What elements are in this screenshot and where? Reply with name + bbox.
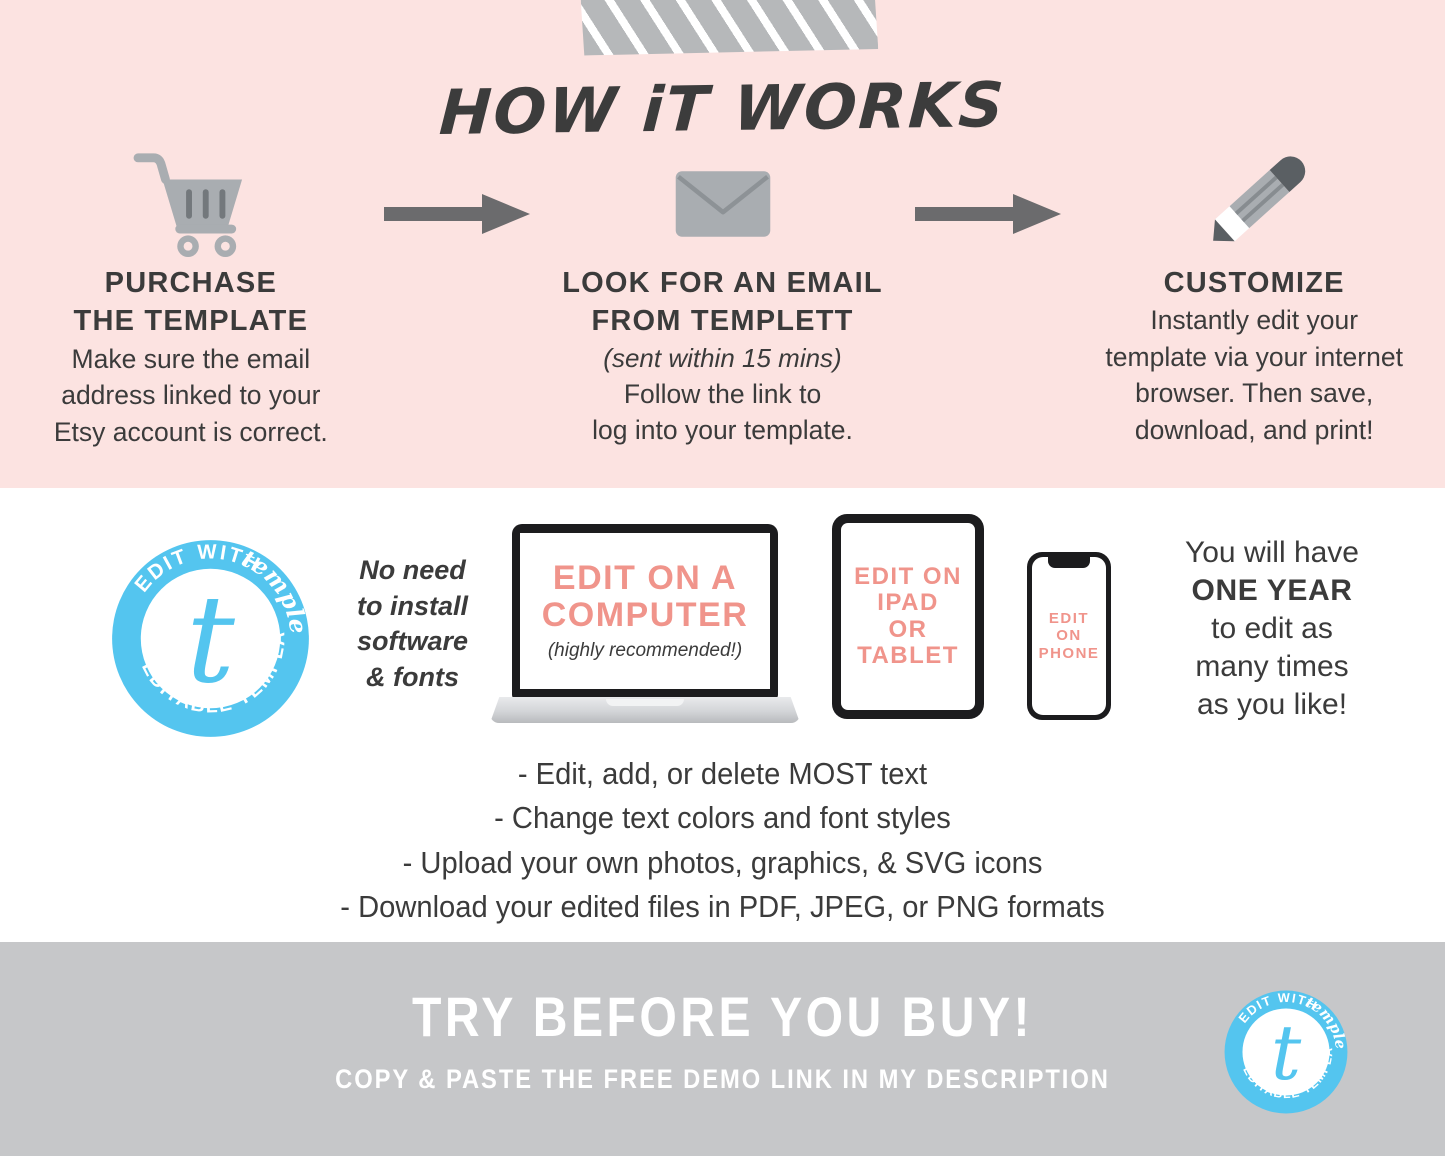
step-body: Instantly edit your template via your in… xyxy=(1063,302,1445,448)
one-year-line4: many times xyxy=(1195,650,1348,683)
feature-list: - Edit, add, or delete MOST text - Chang… xyxy=(0,752,1445,929)
step-body-line3: browser. Then save, xyxy=(1135,378,1373,408)
step-body-line2: address linked to your xyxy=(61,380,320,410)
list-item: - Edit, add, or delete MOST text xyxy=(43,752,1401,796)
step-body: Make sure the email address linked to yo… xyxy=(0,341,382,451)
step-heading: LOOK FOR AN EMAIL FROM TEMPLETT xyxy=(532,264,914,341)
no-need-line3: software xyxy=(357,626,468,656)
step-body-line1: Follow the link to xyxy=(624,379,821,409)
step-heading-line1: PURCHASE xyxy=(105,267,277,299)
templett-badge-icon-footer: EDIT WITH templett EDITABLE TEMPLATE t xyxy=(1222,988,1350,1116)
step-body-line1: Instantly edit your xyxy=(1150,305,1358,335)
laptop-screen-line1: EDIT ON A xyxy=(553,559,737,597)
tablet-body: EDIT ON IPAD OR TABLET xyxy=(832,514,984,719)
phone-screen: EDIT ON PHONE xyxy=(1032,557,1106,715)
list-item: - Upload your own photos, graphics, & SV… xyxy=(43,841,1401,885)
laptop-notch xyxy=(606,699,684,706)
tablet-screen-line3: OR xyxy=(889,616,928,643)
list-item: - Download your edited files in PDF, JPE… xyxy=(43,885,1401,929)
step-heading-line1: LOOK FOR AN EMAIL xyxy=(562,267,883,299)
one-year-highlight: ONE YEAR xyxy=(1192,574,1353,607)
arrow-right-icon xyxy=(382,192,532,236)
no-need-line2: to install xyxy=(357,591,468,621)
no-need-line4: & fonts xyxy=(366,662,459,692)
phone-screen-title: EDIT ON PHONE xyxy=(1039,610,1100,662)
hero-section: HOW iT WORKS xyxy=(0,0,1445,488)
laptop-screen-note: (highly recommended!) xyxy=(548,640,742,662)
tablet-screen-line2: IPAD xyxy=(877,589,939,616)
step-body-line1: Make sure the email xyxy=(72,344,311,374)
one-year-line3: to edit as xyxy=(1211,612,1333,645)
step-body-line2: template via your internet xyxy=(1105,342,1403,372)
laptop-device: EDIT ON A COMPUTER (highly recommended!) xyxy=(490,524,800,732)
step-body: Follow the link to log into your templat… xyxy=(532,376,914,449)
step-body-line4: download, and print! xyxy=(1135,415,1374,445)
arrow-1 xyxy=(382,150,532,236)
list-item: - Change text colors and font styles xyxy=(43,796,1401,840)
templett-badge-icon: EDIT WITH templett EDITABLE TEMPLATE t xyxy=(108,536,313,741)
one-year-line1: You will have xyxy=(1185,536,1359,569)
one-year-text: You will have ONE YEAR to edit as many t… xyxy=(1122,534,1422,724)
step-heading-line1: CUSTOMIZE xyxy=(1164,267,1345,299)
no-need-text: No need to install software & fonts xyxy=(330,553,495,696)
footer-title: TRY BEFORE YOU BUY! xyxy=(101,984,1344,1049)
phone-screen-line3: PHONE xyxy=(1039,645,1100,662)
page-title: HOW iT WORKS xyxy=(0,62,1445,155)
phone-screen-line2: ON xyxy=(1056,627,1082,644)
tablet-screen-line4: TABLET xyxy=(857,642,959,669)
arrow-right-icon xyxy=(913,192,1063,236)
step-purchase: PURCHASE THE TEMPLATE Make sure the emai… xyxy=(0,150,382,450)
washi-tape-icon xyxy=(578,0,879,56)
badge-letter: t xyxy=(186,570,235,711)
phone-notch-icon xyxy=(1048,557,1090,568)
step-body-line3: Etsy account is correct. xyxy=(54,417,328,447)
pencil-icon xyxy=(1063,150,1445,258)
no-need-line1: No need xyxy=(359,555,466,585)
step-body-line2: log into your template. xyxy=(592,415,853,445)
phone-device: EDIT ON PHONE xyxy=(1027,552,1111,720)
phone-screen-line1: EDIT xyxy=(1049,610,1089,627)
laptop-screen-title: EDIT ON A COMPUTER xyxy=(542,560,749,632)
tablet-screen-line1: EDIT ON xyxy=(854,563,962,590)
step-customize: CUSTOMIZE Instantly edit your template v… xyxy=(1063,150,1445,449)
laptop-screen-line2: COMPUTER xyxy=(542,596,749,634)
laptop-screen: EDIT ON A COMPUTER (highly recommended!) xyxy=(520,533,770,689)
step-note: (sent within 15 mins) xyxy=(532,341,914,376)
shopping-cart-icon xyxy=(0,150,382,258)
laptop-lid: EDIT ON A COMPUTER (highly recommended!) xyxy=(512,524,778,699)
badge-letter: t xyxy=(1271,1009,1302,1097)
step-email: LOOK FOR AN EMAIL FROM TEMPLETT (sent wi… xyxy=(532,150,914,449)
steps-row: PURCHASE THE TEMPLATE Make sure the emai… xyxy=(0,150,1445,460)
step-heading-line2: THE TEMPLATE xyxy=(74,305,309,337)
step-heading: CUSTOMIZE xyxy=(1063,264,1445,302)
step-heading-line2: FROM TEMPLETT xyxy=(591,305,853,337)
tablet-device: EDIT ON IPAD OR TABLET xyxy=(832,514,984,719)
footer-subtitle: COPY & PASTE THE FREE DEMO LINK IN MY DE… xyxy=(87,1064,1359,1095)
tablet-screen-title: EDIT ON IPAD OR TABLET xyxy=(854,564,962,670)
phone-body: EDIT ON PHONE xyxy=(1027,552,1111,720)
one-year-line5: as you like! xyxy=(1197,688,1347,721)
step-heading: PURCHASE THE TEMPLATE xyxy=(0,264,382,341)
tablet-screen: EDIT ON IPAD OR TABLET xyxy=(841,523,975,710)
arrow-2 xyxy=(913,150,1063,236)
how-it-works-infographic: HOW iT WORKS xyxy=(0,0,1445,1156)
envelope-icon xyxy=(532,150,914,258)
